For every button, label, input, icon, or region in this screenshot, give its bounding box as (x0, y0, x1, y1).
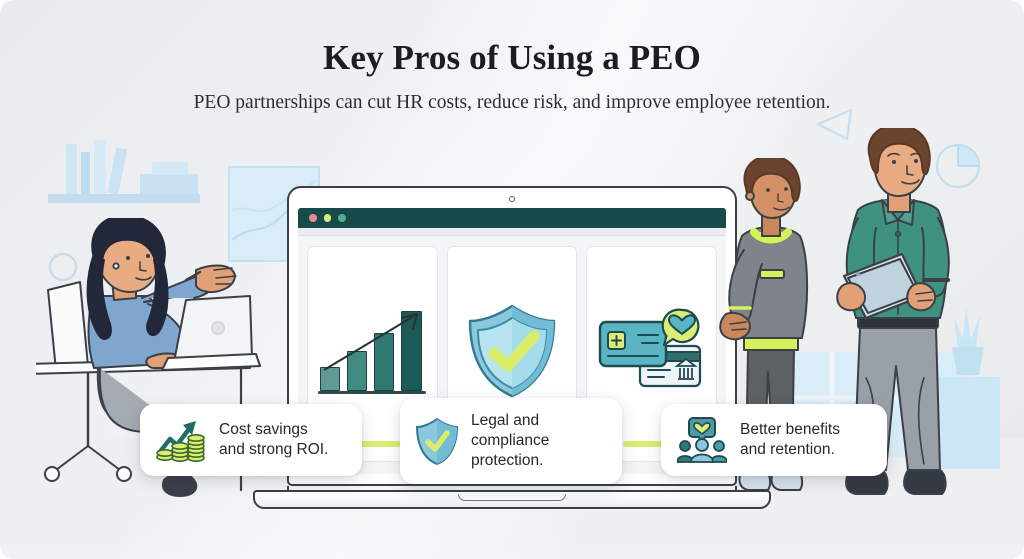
laptop-base (253, 490, 771, 509)
caption-text: Better benefits and retention. (740, 420, 840, 460)
caption-card-cost-savings[interactable]: Cost savings and strong ROI. (140, 404, 362, 476)
coins-growth-icon (156, 417, 206, 463)
infographic-canvas: Key Pros of Using a PEO PEO partnerships… (0, 0, 1024, 559)
window-dot-maximize[interactable] (338, 214, 346, 222)
shield-check-icon (416, 417, 458, 465)
people-heart-icon (677, 417, 727, 463)
window-dot-minimize[interactable] (324, 214, 332, 222)
caption-card-benefits-retention[interactable]: Better benefits and retention. (661, 404, 887, 476)
header: Key Pros of Using a PEO PEO partnerships… (0, 38, 1024, 117)
webcam-icon (509, 196, 515, 202)
page-subtitle: PEO partnerships can cut HR costs, reduc… (0, 89, 1024, 117)
trackpad-notch (458, 494, 566, 501)
caption-text: Legal and compliance protection. (471, 411, 549, 471)
browser-toolbar (298, 228, 726, 236)
page-title: Key Pros of Using a PEO (0, 38, 1024, 78)
bookshelf-decor (48, 136, 208, 211)
caption-card-legal-compliance[interactable]: Legal and compliance protection. (400, 398, 622, 484)
browser-chrome-bar (298, 208, 726, 228)
caption-text: Cost savings and strong ROI. (219, 420, 328, 460)
